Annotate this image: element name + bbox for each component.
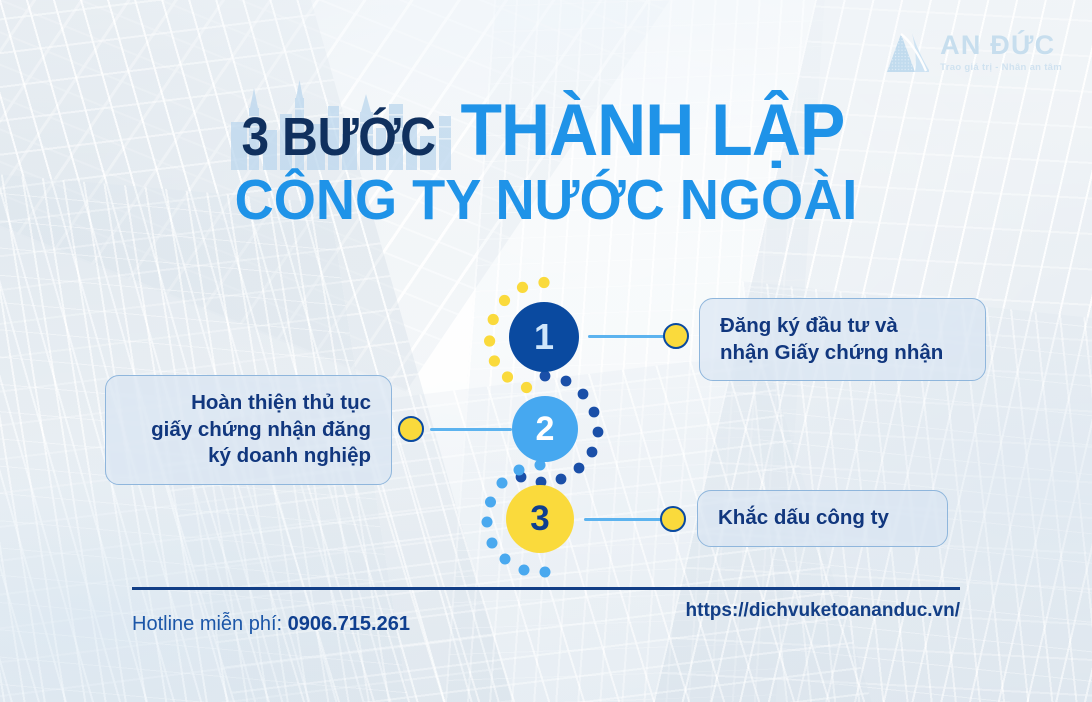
- footer-website-url[interactable]: https://dichvuketoananduc.vn/: [686, 600, 960, 622]
- step-1-card-line-1: Đăng ký đầu tư và: [720, 313, 965, 340]
- step-3-bullet-dot: [660, 506, 686, 532]
- footer-divider: [132, 587, 960, 590]
- step-2-card-line-3: ký doanh nghiệp: [126, 443, 371, 470]
- step-3-number-badge[interactable]: 3: [506, 485, 574, 553]
- step-2-card-line-1: Hoàn thiện thủ tục: [126, 390, 371, 417]
- step-2-number-badge[interactable]: 2: [512, 396, 578, 462]
- step-2-connector-line: [430, 428, 512, 431]
- footer-hotline: Hotline miễn phí: 0906.715.261: [132, 613, 410, 636]
- step-1-number-badge[interactable]: 1: [509, 302, 579, 372]
- step-1-card[interactable]: Đăng ký đầu tư và nhận Giấy chứng nhận: [699, 298, 986, 381]
- step-3-connector-line: [584, 518, 664, 521]
- step-1-connector-line: [588, 335, 670, 338]
- footer-hotline-number[interactable]: 0906.715.261: [288, 613, 410, 635]
- step-2-card[interactable]: Hoàn thiện thủ tục giấy chứng nhận đăng …: [105, 375, 392, 485]
- infographic-canvas: AN ĐỨC Trao giá trị - Nhân an tâm: [0, 0, 1092, 702]
- step-2-bullet-dot: [398, 416, 424, 442]
- step-3-card[interactable]: Khắc dấu công ty: [697, 490, 948, 547]
- step-3-card-line-1: Khắc dấu công ty: [718, 505, 927, 532]
- footer-hotline-label: Hotline miễn phí:: [132, 613, 282, 635]
- steps-container: 1 2 3 Đăng ký đầu tư và nhận Giấy chứng …: [0, 0, 1092, 702]
- step-1-bullet-dot: [663, 323, 689, 349]
- step-1-card-line-2: nhận Giấy chứng nhận: [720, 340, 965, 367]
- step-2-card-line-2: giấy chứng nhận đăng: [126, 417, 371, 444]
